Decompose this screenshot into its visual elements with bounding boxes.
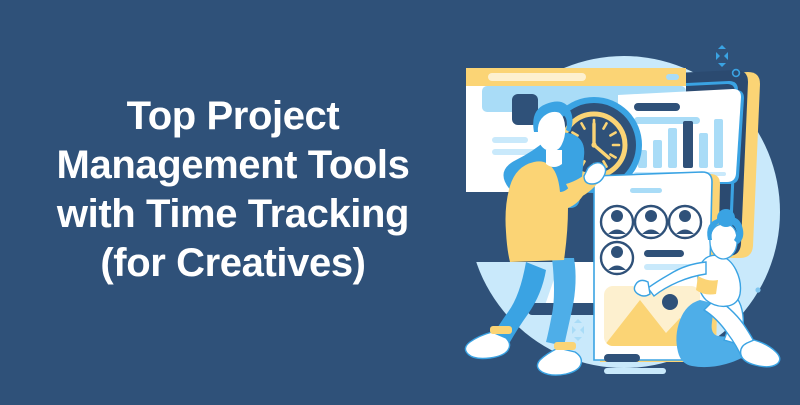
browser-window-control[interactable] <box>666 74 679 80</box>
hair-bun <box>717 209 735 227</box>
sparkle-top-right-icon <box>716 45 728 67</box>
page-title: Top Project Management Tools with Time T… <box>18 92 448 288</box>
caption-bar <box>604 354 640 362</box>
hero-illustration <box>448 0 800 405</box>
title-line-2: Management Tools <box>18 141 448 190</box>
face <box>710 224 737 259</box>
title-line-4: (for Creatives) <box>18 239 448 288</box>
page-text-line-1 <box>492 137 528 143</box>
chart-bar-6 <box>714 119 723 168</box>
chart-bar-4-highlight <box>683 121 693 168</box>
chart-bar-5 <box>699 133 708 168</box>
chart-bar-2 <box>653 140 662 168</box>
dot-right-icon <box>755 287 760 292</box>
contact-name-bar <box>644 250 684 257</box>
browser-url-bar[interactable] <box>488 73 586 81</box>
shoe-front <box>537 348 581 375</box>
clock-center-pin <box>591 142 596 147</box>
shoe <box>741 340 780 367</box>
neck <box>546 150 562 167</box>
promo-banner: Top Project Management Tools with Time T… <box>0 0 800 405</box>
title-line-3: with Time Tracking <box>18 190 448 239</box>
phone-speaker <box>630 188 662 193</box>
hand <box>634 280 650 296</box>
title-line-1: Top Project <box>18 92 448 141</box>
shoe-back <box>465 332 509 359</box>
chart-card-heading <box>634 103 680 111</box>
caption-line <box>604 368 666 374</box>
chart-bar-3 <box>668 128 677 168</box>
